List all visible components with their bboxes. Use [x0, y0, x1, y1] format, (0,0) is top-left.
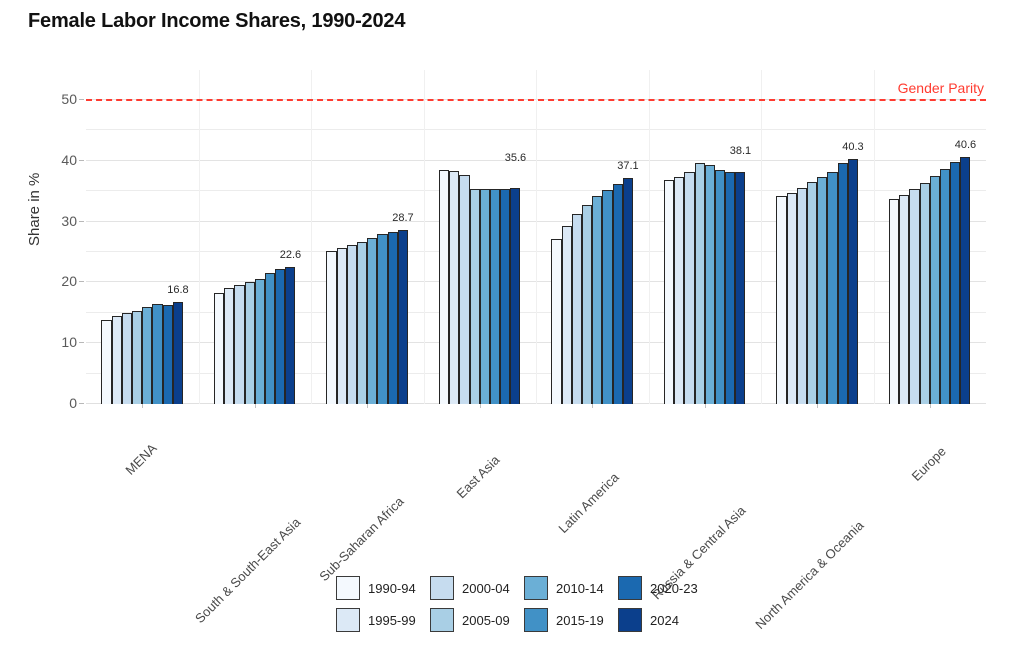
group-separator-gridline — [311, 70, 312, 404]
x-axis-tick-label: Sub-Saharan Africa — [317, 494, 407, 584]
legend-item[interactable]: 2010-14 — [524, 576, 618, 600]
legend-label: 2024 — [650, 613, 679, 628]
bar[interactable] — [337, 248, 347, 404]
bar[interactable] — [797, 188, 807, 404]
group-separator-gridline — [649, 70, 650, 404]
chart-legend: 1990-941995-992000-042005-092010-142015-… — [336, 572, 712, 636]
bar-group-bars — [101, 70, 183, 404]
group-separator-gridline — [199, 70, 200, 404]
legend-swatch — [618, 576, 642, 600]
bar[interactable] — [152, 304, 162, 404]
bar[interactable] — [950, 162, 960, 404]
legend-item[interactable]: 2024 — [618, 608, 712, 632]
bar[interactable] — [899, 195, 909, 404]
bar[interactable] — [551, 239, 561, 404]
bar[interactable] — [572, 214, 582, 404]
bar[interactable] — [224, 288, 234, 404]
legend-item[interactable]: 2015-19 — [524, 608, 618, 632]
y-axis-tick-label: 50 — [61, 91, 77, 107]
x-axis-tick-label: MENA — [123, 441, 160, 478]
x-axis-tick-mark — [367, 404, 368, 408]
bar-group: 37.1 — [551, 70, 633, 404]
bar[interactable] — [132, 311, 142, 404]
bar[interactable] — [101, 320, 111, 404]
bar[interactable] — [388, 232, 398, 404]
x-axis-tick-mark — [930, 404, 931, 408]
y-axis-tick-mark — [79, 99, 84, 100]
bar[interactable] — [326, 251, 336, 404]
legend-label: 1990-94 — [368, 581, 416, 596]
bar[interactable] — [245, 282, 255, 404]
legend-swatch — [336, 576, 360, 600]
bar[interactable] — [827, 172, 837, 404]
x-axis-tick-mark — [592, 404, 593, 408]
bar[interactable] — [470, 189, 480, 404]
bar[interactable] — [173, 302, 183, 404]
bar[interactable] — [715, 170, 725, 404]
bar[interactable] — [920, 183, 930, 404]
bar[interactable] — [377, 234, 387, 404]
legend-swatch — [430, 576, 454, 600]
bar[interactable] — [510, 188, 520, 404]
bar[interactable] — [255, 279, 265, 404]
bar[interactable] — [725, 172, 735, 404]
bar-group: 35.6 — [439, 70, 521, 404]
x-axis-tick-label: North America & Oceania — [752, 518, 866, 632]
bar-group: 16.8 — [101, 70, 183, 404]
bar[interactable] — [613, 184, 623, 404]
y-axis-tick-label: 30 — [61, 213, 77, 229]
x-axis-tick-label: Latin America — [556, 470, 622, 536]
bar[interactable] — [848, 159, 858, 404]
bar-value-label: 16.8 — [167, 284, 188, 296]
y-axis-tick-label: 40 — [61, 152, 77, 168]
y-axis-tick-mark — [79, 342, 84, 343]
group-separator-gridline — [424, 70, 425, 404]
bar-group-bars — [776, 70, 858, 404]
x-axis-tick-mark — [705, 404, 706, 408]
bar-value-label: 38.1 — [730, 145, 751, 157]
y-axis-tick-label: 0 — [69, 395, 77, 411]
bar[interactable] — [695, 163, 705, 404]
chart-title: Female Labor Income Shares, 1990-2024 — [28, 10, 405, 33]
x-axis-labels: MENASouth & South-East AsiaSub-Saharan A… — [86, 404, 986, 554]
bar-group-bars — [326, 70, 408, 404]
bar-group-bars — [889, 70, 971, 404]
legend-label: 2005-09 — [462, 613, 510, 628]
bar[interactable] — [357, 242, 367, 404]
bar[interactable] — [500, 189, 510, 404]
legend-swatch — [524, 576, 548, 600]
x-axis-tick-mark — [255, 404, 256, 408]
bar[interactable] — [398, 230, 408, 404]
bar-group-bars — [439, 70, 521, 404]
y-axis-tick-mark — [79, 160, 84, 161]
bar-group-bars — [664, 70, 746, 404]
bar-value-label: 22.6 — [280, 249, 301, 261]
y-axis-tick-mark — [79, 281, 84, 282]
bar[interactable] — [480, 189, 490, 404]
bar-value-label: 40.3 — [842, 141, 863, 153]
legend-label: 2020-23 — [650, 581, 698, 596]
bar[interactable] — [909, 189, 919, 404]
legend-label: 1995-99 — [368, 613, 416, 628]
y-axis-tick-mark — [79, 403, 84, 404]
bar[interactable] — [807, 182, 817, 404]
bar-value-label: 37.1 — [617, 160, 638, 172]
bar[interactable] — [285, 267, 295, 404]
bar[interactable] — [960, 157, 970, 404]
bar[interactable] — [930, 176, 940, 404]
bar-value-label: 28.7 — [392, 212, 413, 224]
bar[interactable] — [582, 205, 592, 404]
y-axis-tick-label: 10 — [61, 334, 77, 350]
bar[interactable] — [705, 165, 715, 404]
gender-parity-line — [86, 99, 986, 101]
x-axis-tick-label: South & South-East Asia — [192, 515, 303, 626]
y-axis-tick-mark — [79, 221, 84, 222]
bar-group: 40.6 — [889, 70, 971, 404]
bar-group: 38.1 — [664, 70, 746, 404]
bar-group-bars — [214, 70, 296, 404]
bar[interactable] — [490, 189, 500, 404]
bar[interactable] — [142, 307, 152, 404]
bar-value-label: 35.6 — [505, 152, 526, 164]
bar[interactable] — [234, 285, 244, 404]
bar[interactable] — [735, 172, 745, 404]
gender-parity-label: Gender Parity — [898, 80, 984, 96]
legend-swatch — [524, 608, 548, 632]
legend-swatch — [430, 608, 454, 632]
bar[interactable] — [122, 313, 132, 404]
bar[interactable] — [265, 273, 275, 404]
bar[interactable] — [838, 163, 848, 404]
group-separator-gridline — [536, 70, 537, 404]
bar[interactable] — [602, 190, 612, 404]
bar[interactable] — [940, 169, 950, 404]
bar[interactable] — [674, 177, 684, 404]
y-axis-label: Share in % — [26, 173, 43, 246]
bar-group: 22.6 — [214, 70, 296, 404]
bar[interactable] — [112, 316, 122, 404]
bar-group: 28.7 — [326, 70, 408, 404]
group-separator-gridline — [761, 70, 762, 404]
bar[interactable] — [592, 196, 602, 404]
bar[interactable] — [163, 305, 173, 404]
plot-area: 0102030405016.822.628.735.637.138.140.34… — [86, 70, 986, 404]
bar[interactable] — [347, 245, 357, 404]
chart-panel: 0102030405016.822.628.735.637.138.140.34… — [86, 70, 986, 404]
bar[interactable] — [664, 180, 674, 404]
legend-item[interactable]: 2020-23 — [618, 576, 712, 600]
legend-swatch — [336, 608, 360, 632]
legend-item[interactable]: 2000-04 — [430, 576, 524, 600]
legend-item[interactable]: 1995-99 — [336, 608, 430, 632]
bar[interactable] — [817, 177, 827, 404]
bar[interactable] — [439, 170, 449, 404]
legend-label: 2010-14 — [556, 581, 604, 596]
bar[interactable] — [562, 226, 572, 404]
bar[interactable] — [459, 175, 469, 404]
x-axis-tick-mark — [480, 404, 481, 408]
legend-label: 2000-04 — [462, 581, 510, 596]
bar[interactable] — [684, 172, 694, 404]
y-axis-tick-label: 20 — [61, 273, 77, 289]
bar[interactable] — [449, 171, 459, 404]
bar[interactable] — [623, 178, 633, 404]
bar[interactable] — [214, 293, 224, 404]
x-axis-tick-mark — [142, 404, 143, 408]
bar[interactable] — [889, 199, 899, 404]
bar[interactable] — [787, 193, 797, 404]
x-axis-tick-label: Europe — [908, 444, 948, 484]
bar-group: 40.3 — [776, 70, 858, 404]
bar-value-label: 40.6 — [955, 139, 976, 151]
bar-group-bars — [551, 70, 633, 404]
legend-label: 2015-19 — [556, 613, 604, 628]
bar[interactable] — [275, 269, 285, 404]
x-axis-tick-label: East Asia — [453, 452, 502, 501]
legend-swatch — [618, 608, 642, 632]
bar[interactable] — [776, 196, 786, 404]
x-axis-tick-mark — [817, 404, 818, 408]
bar[interactable] — [367, 238, 377, 404]
legend-item[interactable]: 2005-09 — [430, 608, 524, 632]
group-separator-gridline — [874, 70, 875, 404]
legend-item[interactable]: 1990-94 — [336, 576, 430, 600]
